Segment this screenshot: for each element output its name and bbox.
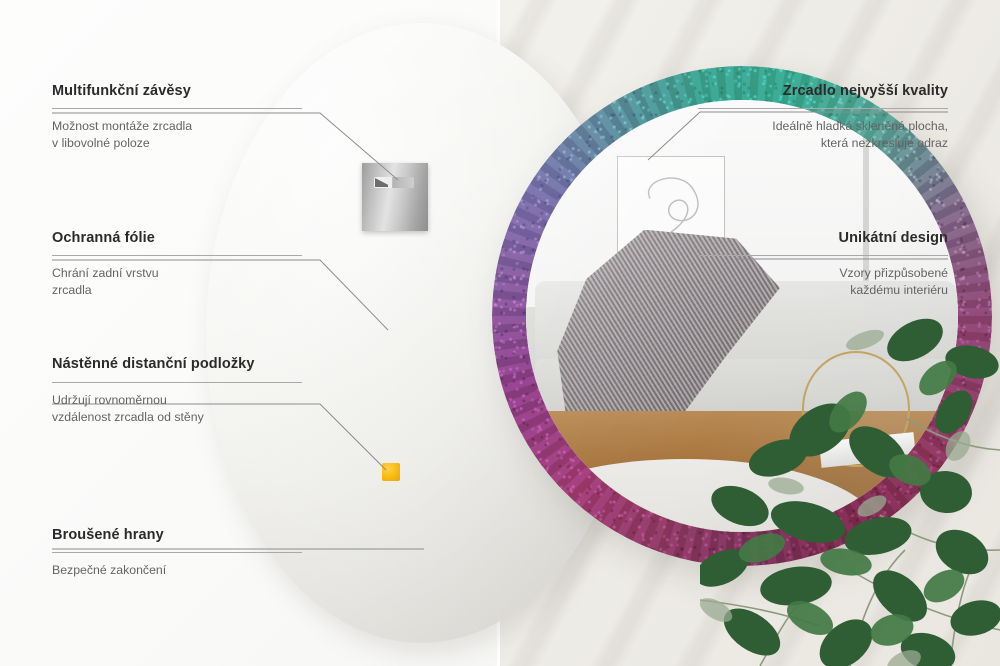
callout-title: Multifunkční závěsy <box>52 82 302 101</box>
infographic-root: Multifunkční závěsy Možnost montáže zrca… <box>0 0 1000 666</box>
callout-nastenne-distancni-podlozky: Nástěnné distanční podložky Udržují rovn… <box>52 355 302 427</box>
callout-rule <box>52 255 302 256</box>
callout-body-line: vzdálenost zrcadla od stěny <box>52 410 204 424</box>
callout-body: Udržují rovnoměrnou vzdálenost zrcadla o… <box>52 392 302 428</box>
callout-rule <box>698 255 948 256</box>
callout-title: Broušené hrany <box>52 526 302 545</box>
callout-rule <box>698 108 948 109</box>
callout-body: Vzory přizpůsobené každému interiéru <box>698 265 948 301</box>
keyhole-slot-icon <box>374 177 414 188</box>
callout-body-line: každému interiéru <box>850 283 948 297</box>
foliage-branches <box>700 300 1000 666</box>
callout-body-line: Možnost montáže zrcadla <box>52 119 192 133</box>
callout-body-line: Chrání zadní vrstvu <box>52 266 159 280</box>
callout-body-line: Ideálně hladká skleněná plocha, <box>772 119 948 133</box>
callout-body: Bezpečné zakončení <box>52 562 302 580</box>
callout-title: Ochranná fólie <box>52 229 302 248</box>
callout-title: Nástěnné distanční podložky <box>52 355 302 374</box>
callout-brousene-hrany: Broušené hrany Bezpečné zakončení <box>52 526 302 579</box>
callout-multifunkcni-zavesy: Multifunkční závěsy Možnost montáže zrca… <box>52 82 302 153</box>
callout-title: Zrcadlo nejvyšší kvality <box>698 82 948 101</box>
callout-body-line: Vzory přizpůsobené <box>839 266 948 280</box>
callout-body: Chrání zadní vrstvu zrcadla <box>52 265 302 301</box>
callout-body-line: Udržují rovnoměrnou <box>52 393 167 407</box>
callout-body-line: v libovolné poloze <box>52 136 150 150</box>
spacer-pad <box>382 463 400 481</box>
callout-body-line: která nezkresluje odraz <box>821 136 948 150</box>
callout-unikatni-design: Unikátní design Vzory přizpůsobené každé… <box>698 229 948 300</box>
callout-body: Možnost montáže zrcadla v libovolné polo… <box>52 118 302 154</box>
callout-body-line: Bezpečné zakončení <box>52 563 166 577</box>
hanging-plate <box>362 163 428 231</box>
callout-body-line: zrcadla <box>52 283 92 297</box>
callout-zrcadlo-nejvyssi-kvality: Zrcadlo nejvyšší kvality Ideálně hladká … <box>698 82 948 153</box>
callout-title-text: Nástěnné distanční podložky <box>52 356 255 372</box>
callout-ochranna-folie: Ochranná fólie Chrání zadní vrstvu zrcad… <box>52 229 302 300</box>
callout-rule <box>52 382 302 383</box>
callout-rule <box>52 108 302 109</box>
callout-title: Unikátní design <box>698 229 948 248</box>
callout-rule <box>52 552 302 553</box>
callout-body: Ideálně hladká skleněná plocha, která ne… <box>698 118 948 154</box>
